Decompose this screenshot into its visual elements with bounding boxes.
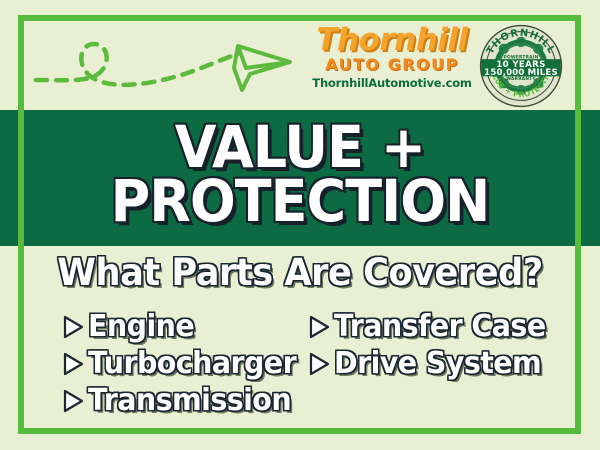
thornhill-auto-group-logo: Thornhill AUTO GROUP ThornhillAutomotive… — [312, 24, 472, 106]
triangle-bullet-icon — [308, 314, 330, 340]
warranty-seal-badge: THORNHILL VALUE + PROTECTION POWERTRAIN … — [478, 23, 564, 109]
dashed-loop-arrow-icon — [28, 22, 298, 102]
part-label: Engine — [88, 311, 194, 343]
promo-poster: Thornhill AUTO GROUP ThornhillAutomotive… — [0, 0, 600, 450]
part-label: Transmission — [88, 385, 291, 417]
list-item: Drive System — [308, 345, 542, 382]
part-label: Transfer Case — [334, 311, 546, 343]
header-area: Thornhill AUTO GROUP ThornhillAutomotive… — [0, 0, 600, 110]
covered-parts-list: Engine Turbocharger Transmission Tra — [62, 308, 542, 420]
list-item: Transfer Case — [308, 308, 542, 345]
logo-website-url: ThornhillAutomotive.com — [312, 76, 472, 90]
subtitle-question: What Parts Are Covered? — [15, 253, 585, 293]
badge-miles-text: 150,000 MILES — [484, 68, 558, 78]
triangle-bullet-icon — [62, 388, 84, 414]
logo-subbrand-text: AUTO GROUP — [312, 56, 472, 74]
parts-column-right: Transfer Case Drive System — [308, 308, 542, 382]
list-item: Engine — [62, 308, 307, 345]
parts-column-left: Engine Turbocharger Transmission — [62, 308, 307, 419]
part-label: Drive System — [334, 348, 541, 380]
list-item: Transmission — [62, 382, 307, 419]
triangle-bullet-icon — [308, 351, 330, 377]
part-label: Turbocharger — [88, 348, 296, 380]
triangle-bullet-icon — [62, 351, 84, 377]
title-line-2: PROTECTION — [21, 172, 579, 230]
logo-brand-text: Thornhill — [312, 24, 472, 56]
triangle-bullet-icon — [62, 314, 84, 340]
list-item: Turbocharger — [62, 345, 307, 382]
title-band: VALUE + PROTECTION — [0, 110, 600, 246]
